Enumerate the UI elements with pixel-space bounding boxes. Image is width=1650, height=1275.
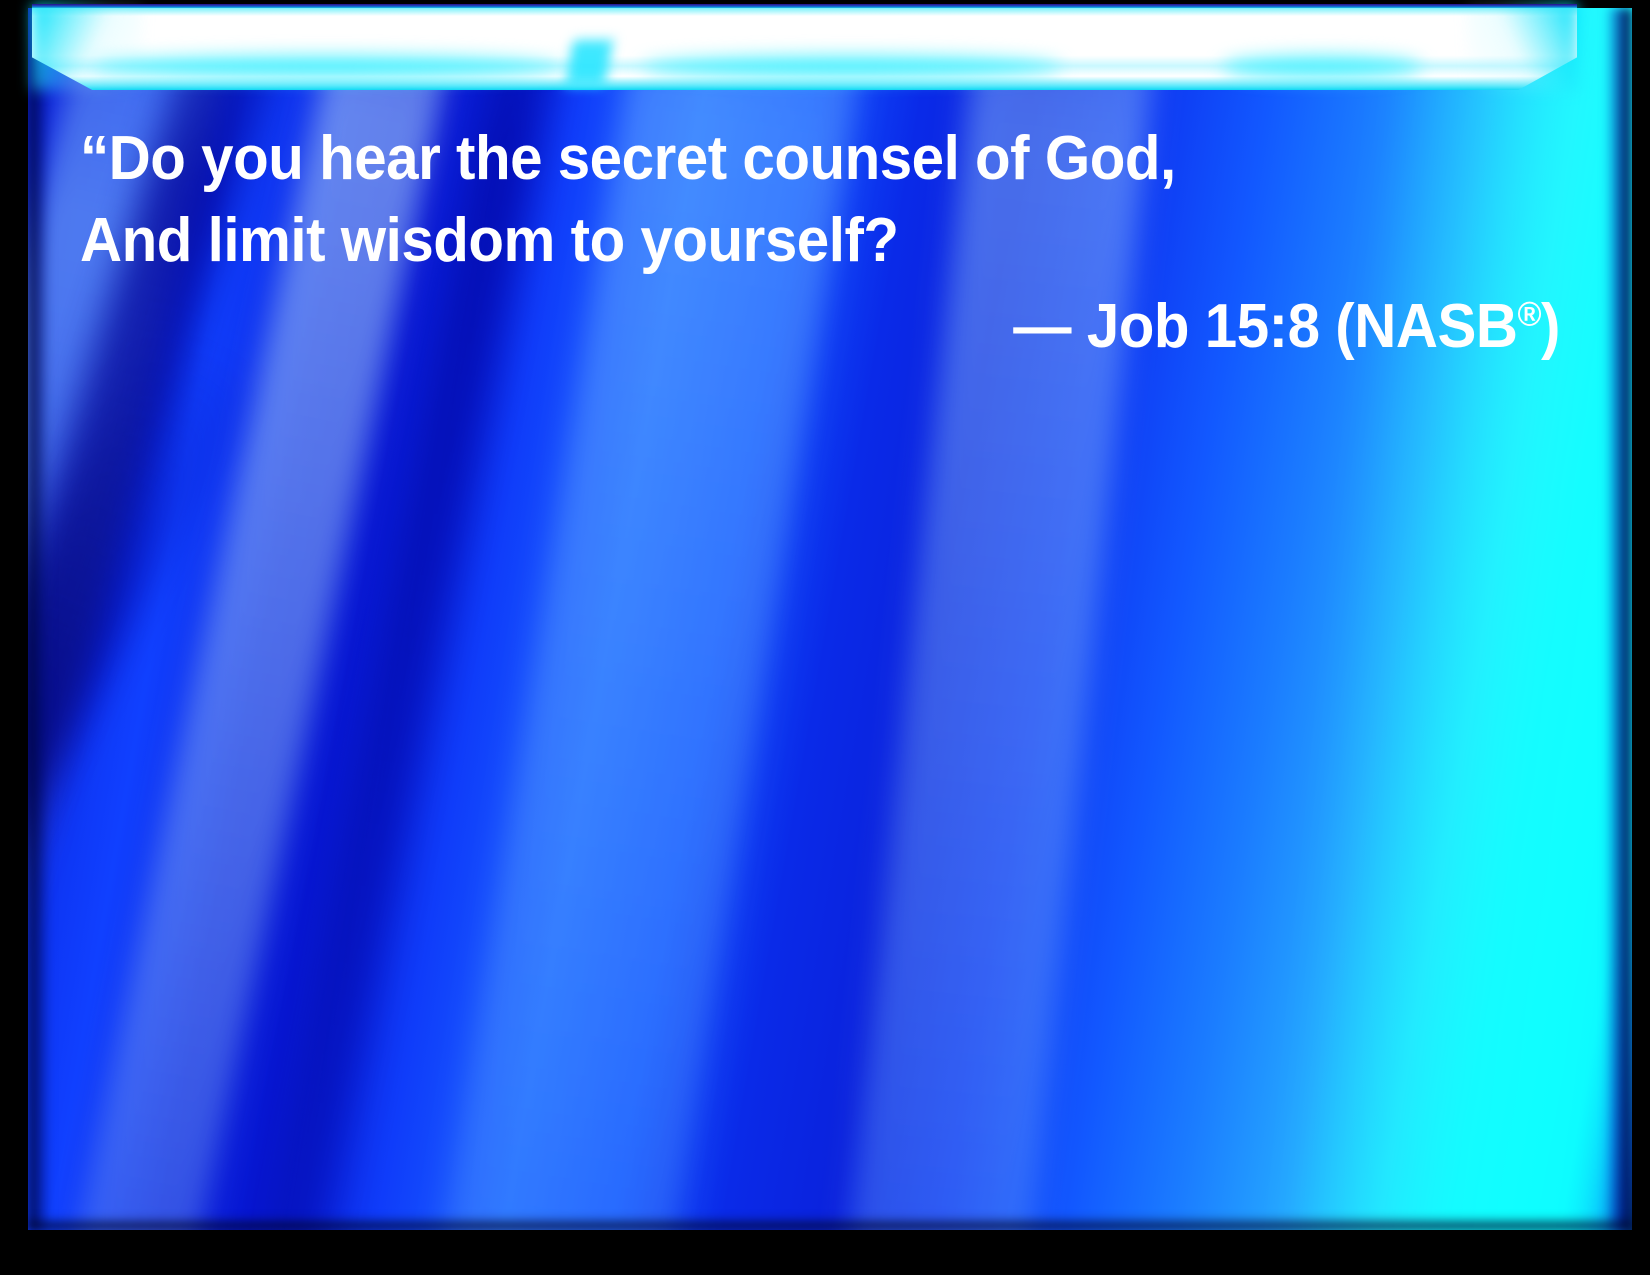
registered-trademark-icon: ® [1517,295,1541,333]
scripture-slide: “Do you hear the secret counsel of God, … [0,0,1650,1275]
verse-line-2: And limit wisdom to yourself? [80,200,1471,282]
verse-attribution: — Job 15:8 (NASB®) [169,286,1560,368]
attribution-translation-close: ) [1541,292,1560,361]
attribution-reference: Job 15:8 [1087,292,1320,361]
verse-block: “Do you hear the secret counsel of God, … [80,118,1560,368]
attribution-translation-open: (NASB [1335,292,1517,361]
slide-text-layer: “Do you hear the secret counsel of God, … [0,0,1650,1275]
verse-line-1: “Do you hear the secret counsel of God, [80,118,1471,200]
attribution-dash: — [1013,292,1071,361]
